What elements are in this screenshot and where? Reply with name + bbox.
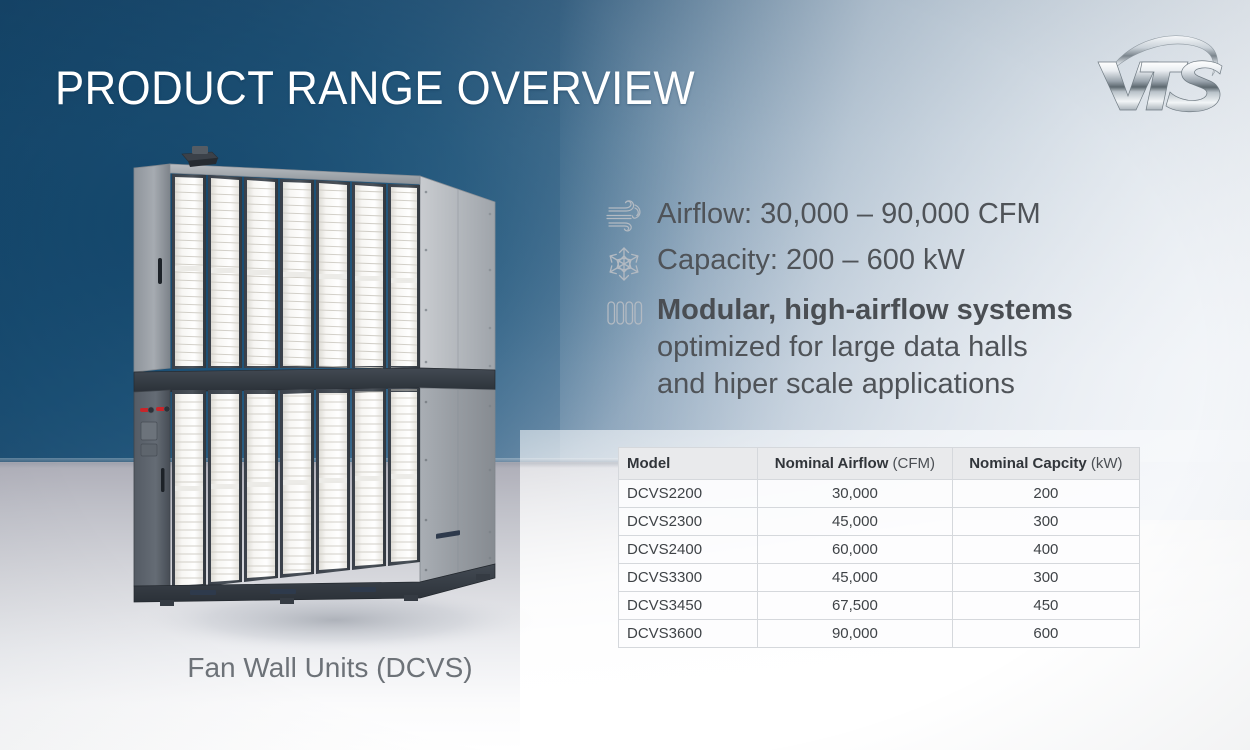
cell-airflow: 45,000 [758, 564, 953, 592]
product-caption: Fan Wall Units (DCVS) [120, 652, 540, 684]
header-capacity: Nominal Capcity (kW) [952, 448, 1139, 480]
cell-model: DCVS2300 [619, 508, 758, 536]
cell-model: DCVS2200 [619, 480, 758, 508]
unit-left-door-upper [134, 164, 170, 372]
cell-airflow: 45,000 [758, 508, 953, 536]
table-row: DCVS2300 45,000 300 [619, 508, 1140, 536]
header-airflow: Nominal Airflow (CFM) [758, 448, 953, 480]
bullet-airflow-text: Airflow: 30,000 – 90,000 CFM [657, 196, 1041, 233]
bullet-modular-bold: Modular, high-airflow systems [657, 294, 1073, 326]
bullet-capacity: Capacity: 200 – 600 kW [605, 242, 1145, 283]
bullet-modular-text: Modular, high-airflow systems optimized … [657, 292, 1073, 403]
bullet-capacity-text: Capacity: 200 – 600 kW [657, 242, 965, 279]
unit-display-panel [141, 422, 157, 440]
bullet-modular-line2: optimized for large data halls [657, 331, 1028, 363]
cell-model: DCVS3600 [619, 620, 758, 648]
bullet-airflow: Airflow: 30,000 – 90,000 CFM [605, 196, 1145, 233]
vts-logo [1084, 24, 1234, 116]
spec-table-head: Model Nominal Airflow (CFM) Nominal Capc… [619, 448, 1140, 480]
table-row: DCVS3450 67,500 450 [619, 592, 1140, 620]
cell-model: DCVS2400 [619, 536, 758, 564]
product-image [120, 140, 550, 650]
feature-bullets: Airflow: 30,000 – 90,000 CFM [605, 196, 1145, 412]
header-capacity-unit: (kW) [1091, 455, 1123, 472]
cell-capacity: 600 [952, 620, 1139, 648]
cell-airflow: 60,000 [758, 536, 953, 564]
cell-airflow: 90,000 [758, 620, 953, 648]
slide-root: PRODUCT RANGE OVERVIEW [0, 0, 1250, 750]
cell-airflow: 67,500 [758, 592, 953, 620]
airflow-icon [605, 196, 657, 233]
header-model: Model [619, 448, 758, 480]
cell-capacity: 300 [952, 508, 1139, 536]
spec-table: Model Nominal Airflow (CFM) Nominal Capc… [618, 447, 1140, 648]
cell-model: DCVS3300 [619, 564, 758, 592]
spec-table-body: DCVS2200 30,000 200 DCVS2300 45,000 300 … [619, 480, 1140, 648]
table-row: DCVS3300 45,000 300 [619, 564, 1140, 592]
modules-icon [605, 292, 657, 327]
unit-door-handle-lower [161, 468, 165, 492]
unit-side-panel-upper [420, 176, 495, 370]
unit-left-door-lower [134, 390, 170, 590]
cell-capacity: 400 [952, 536, 1139, 564]
cell-capacity: 450 [952, 592, 1139, 620]
bullet-modular-line3: and hiper scale applications [657, 368, 1015, 400]
unit-side-panel-lower [420, 388, 495, 582]
header-airflow-unit: (CFM) [893, 455, 935, 472]
snowflake-icon [605, 242, 657, 283]
header-airflow-main: Nominal Airflow [775, 455, 893, 472]
cell-model: DCVS3450 [619, 592, 758, 620]
table-row: DCVS2400 60,000 400 [619, 536, 1140, 564]
bullet-modular: Modular, high-airflow systems optimized … [605, 292, 1145, 403]
unit-keypad-panel [141, 444, 157, 456]
table-row: DCVS2200 30,000 200 [619, 480, 1140, 508]
page-title: PRODUCT RANGE OVERVIEW [55, 60, 695, 115]
unit-door-handle-upper [158, 258, 162, 284]
cell-airflow: 30,000 [758, 480, 953, 508]
cell-capacity: 200 [952, 480, 1139, 508]
unit-top-fitting [182, 146, 218, 167]
table-row: DCVS3600 90,000 600 [619, 620, 1140, 648]
header-capacity-main: Nominal Capcity [969, 455, 1091, 472]
table-header-row: Model Nominal Airflow (CFM) Nominal Capc… [619, 448, 1140, 480]
cell-capacity: 300 [952, 564, 1139, 592]
